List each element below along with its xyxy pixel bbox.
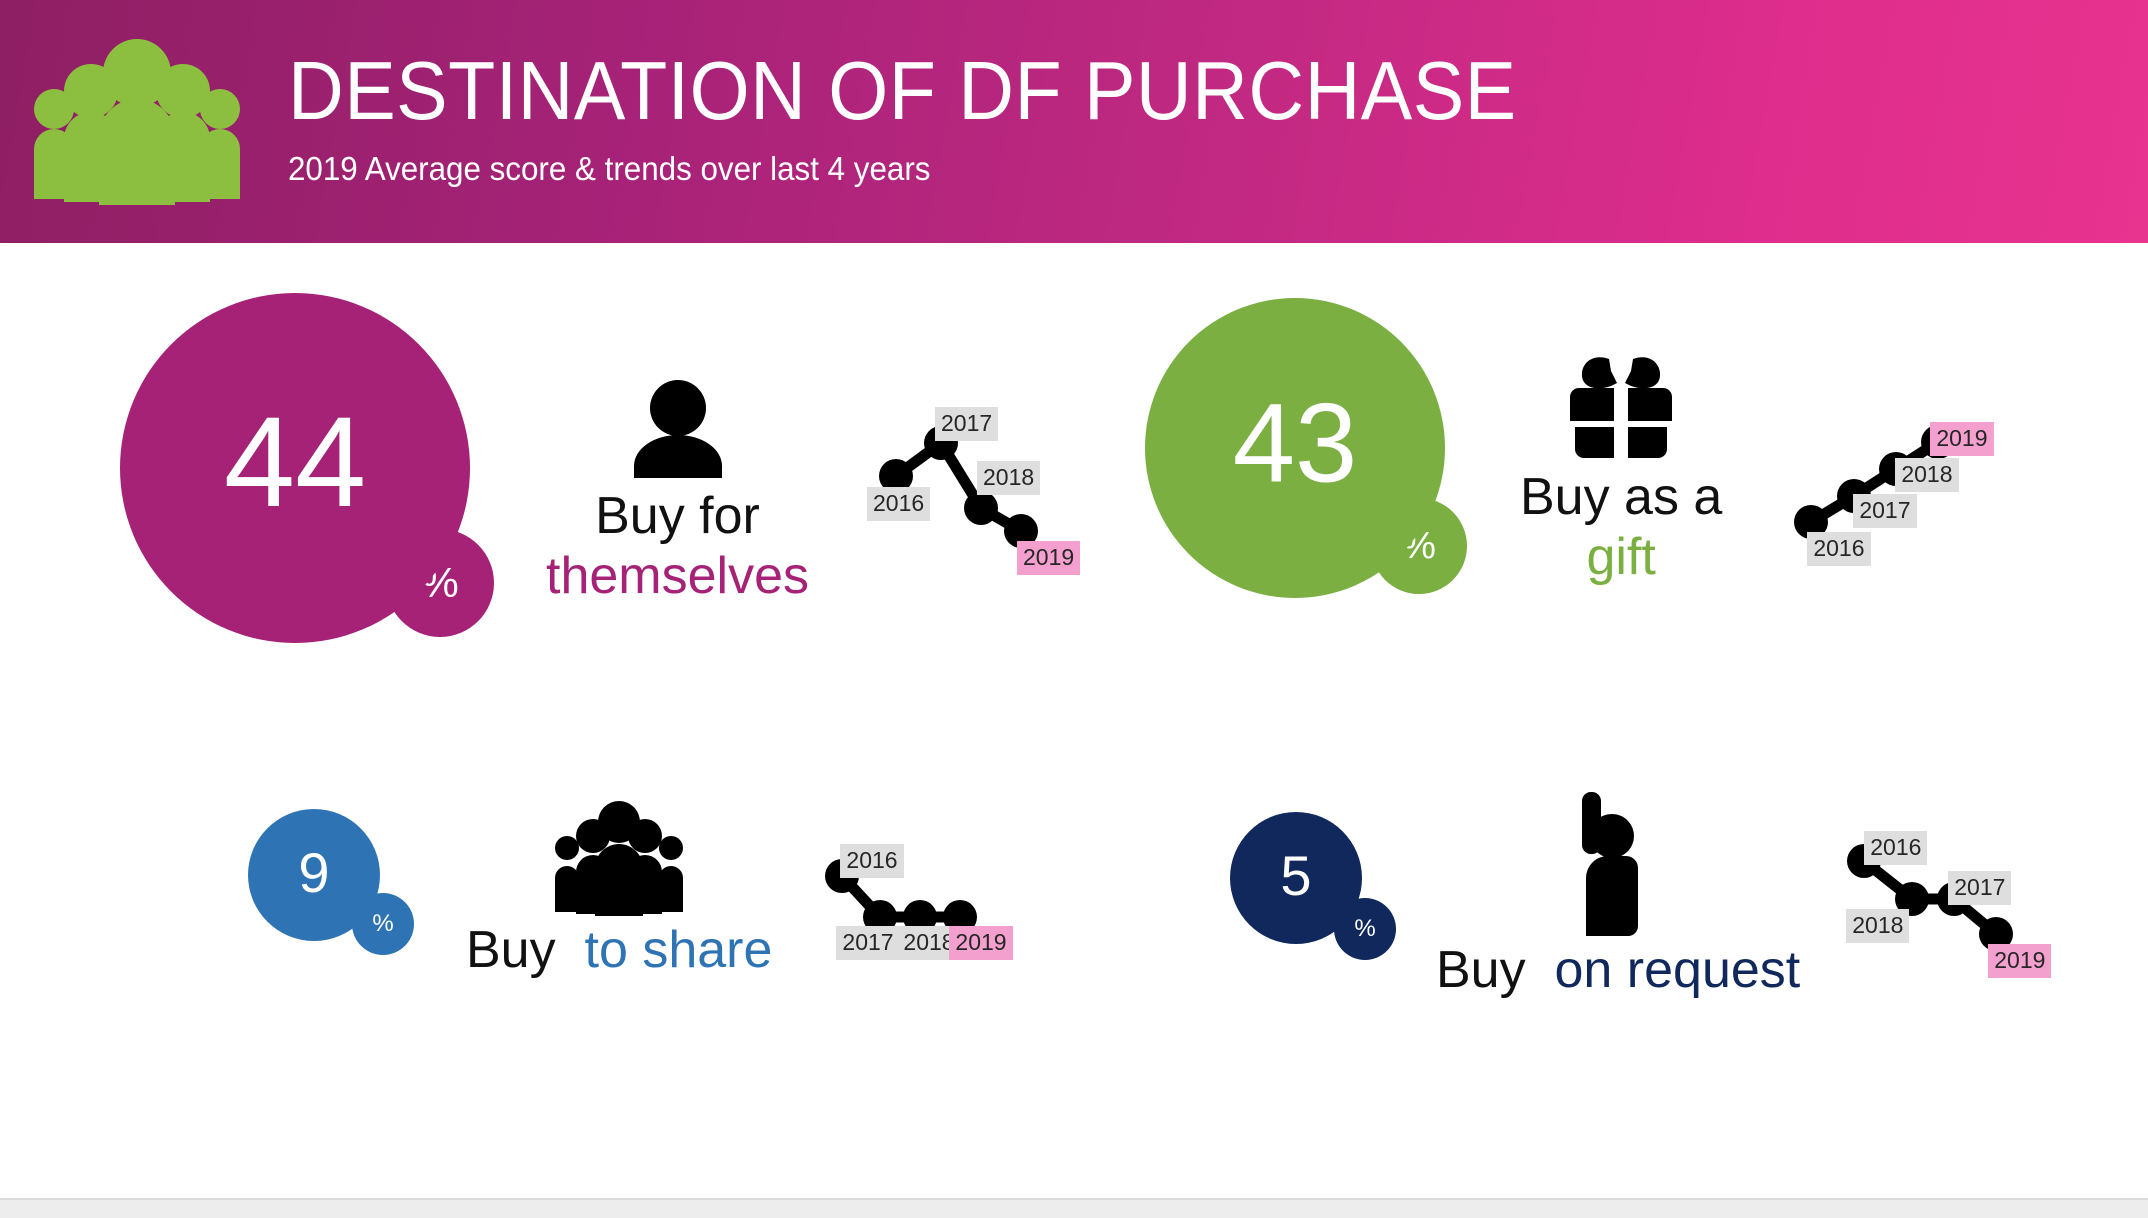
year-label-2016: 2016	[840, 844, 903, 878]
year-label-2018: 2018	[1846, 909, 1909, 943]
raised-hand-person-icon	[1564, 788, 1672, 938]
year-label-2019: 2019	[1988, 944, 2051, 978]
year-label-2019: 2019	[1930, 422, 1993, 456]
header-text-group: DESTINATION OF DF PURCHASE 2019 Average …	[288, 50, 1609, 194]
year-label-2017: 2017	[935, 407, 998, 441]
year-label-2017: 2017	[1948, 871, 2011, 905]
label-line-combined: Buy to share	[466, 920, 772, 980]
page-subtitle: 2019 Average score & trends over last 4 …	[288, 151, 1543, 187]
year-label-2018: 2018	[977, 461, 1040, 495]
bubble-group: 9 %	[248, 809, 420, 969]
year-label-2018: 2018	[1895, 458, 1958, 492]
year-label-2016: 2016	[1807, 532, 1870, 566]
bubble-group: 43 %	[1145, 298, 1460, 638]
bubble-group: 44 %	[120, 293, 480, 683]
label-line-1: Buy	[466, 921, 570, 979]
trend-sparkline: 2016 2017 2018 2019	[1778, 398, 2008, 568]
label-line-combined: Buy on request	[1436, 940, 1800, 1000]
value-text: 43	[1233, 388, 1358, 500]
stat-block-buy-for-themselves: 44 % Buy for themselves	[120, 293, 1089, 683]
value-bubble: 44	[120, 293, 470, 643]
stat-block-buy-as-a-gift: 43 %	[1145, 298, 2008, 638]
label-column: Buy on request	[1436, 788, 1800, 1000]
value-text: 9	[298, 845, 329, 901]
trend-sparkline: 2016 2017 2018 2019	[812, 834, 1042, 979]
year-label-2019: 2019	[1017, 541, 1080, 575]
label-line-2: on request	[1555, 941, 1801, 999]
trend-sparkline: 2016 2018 2017 2019	[1836, 829, 2066, 984]
label-line-2: to share	[585, 921, 773, 979]
trend-sparkline: 2016 2017 2018 2019	[859, 403, 1089, 573]
label-column: Buy to share	[466, 798, 772, 980]
label-line-2: gift	[1586, 527, 1655, 587]
group-of-people-icon	[553, 798, 685, 918]
stat-block-buy-to-share: 9 %	[248, 798, 1042, 980]
year-label-2017: 2017	[836, 926, 899, 960]
label-column: Buy for themselves	[546, 370, 809, 607]
value-text: 5	[1280, 847, 1311, 903]
percent-symbol: %	[372, 912, 393, 936]
value-text: 44	[224, 399, 366, 527]
year-label-2016: 2016	[867, 487, 930, 521]
page-title: DESTINATION OF DF PURCHASE	[288, 50, 1517, 131]
value-bubble: 9	[248, 809, 380, 941]
label-column: Buy as a gift	[1520, 349, 1722, 588]
group-of-people-icon	[22, 32, 252, 212]
gift-icon	[1565, 349, 1677, 461]
label-line-1: Buy as a	[1520, 467, 1722, 527]
stats-grid: 44 % Buy for themselves	[0, 243, 2148, 1183]
label-line-1: Buy for	[595, 486, 760, 546]
stat-block-buy-on-request: 5 % Buy	[1230, 788, 2066, 1000]
slide-footer-bar	[0, 1198, 2148, 1218]
page-header: DESTINATION OF DF PURCHASE 2019 Average …	[0, 0, 2148, 243]
bubble-group: 5 %	[1230, 812, 1402, 977]
single-person-icon	[627, 370, 729, 480]
year-label-2017: 2017	[1853, 494, 1916, 528]
label-line-1: Buy	[1436, 941, 1540, 999]
year-label-2019: 2019	[949, 926, 1012, 960]
value-bubble: 5	[1230, 812, 1362, 944]
label-line-2: themselves	[546, 546, 809, 606]
value-bubble: 43	[1145, 298, 1445, 598]
percent-symbol: %	[1354, 917, 1375, 941]
year-label-2016: 2016	[1864, 831, 1927, 865]
